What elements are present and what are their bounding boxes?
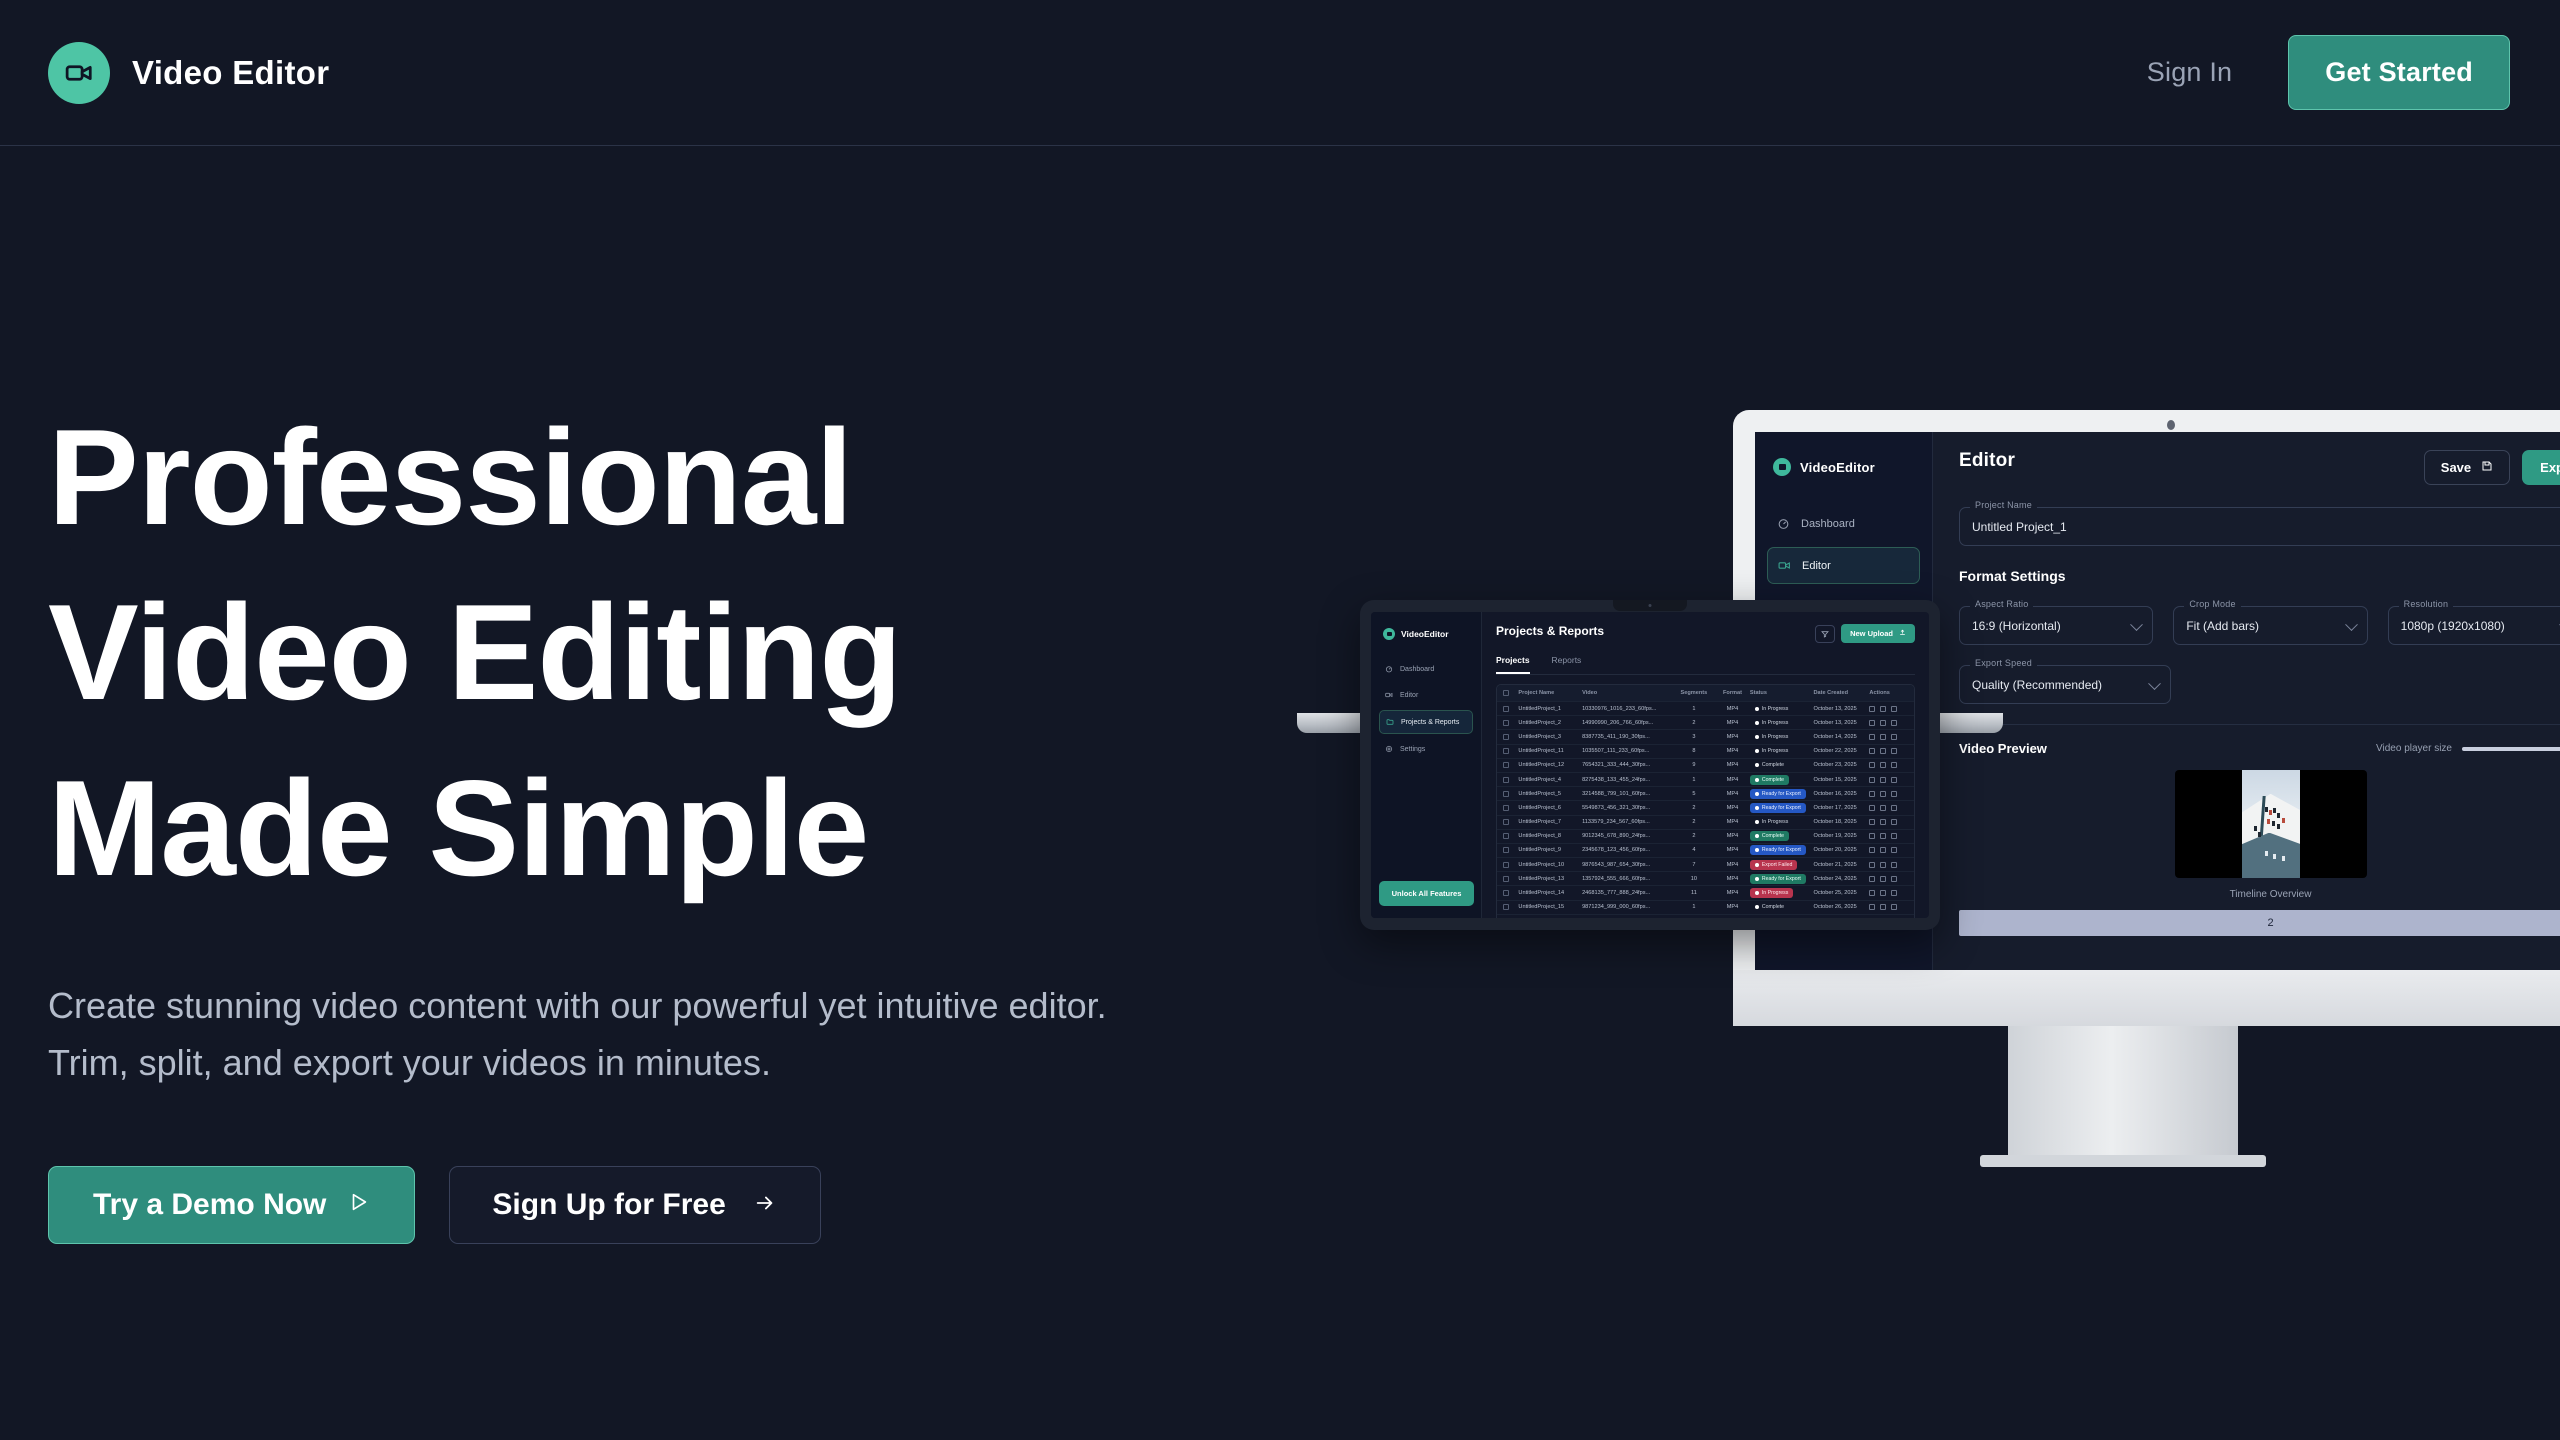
table-header-row: Project Name Video Segments Format Statu… xyxy=(1497,685,1914,702)
cell-status: In Progress xyxy=(1750,718,1814,728)
cell-status: In Progress xyxy=(1750,746,1814,756)
resolution-value: 1080p (1920x1080) xyxy=(2401,619,2560,633)
video-preview-header: Video Preview Video player size xyxy=(1959,741,2560,756)
row-checkbox[interactable] xyxy=(1503,791,1509,797)
player-size-slider[interactable] xyxy=(2462,747,2560,751)
download-icon[interactable] xyxy=(1880,720,1886,726)
editor-page-title: Editor xyxy=(1959,450,2015,472)
row-actions[interactable] xyxy=(1869,777,1908,783)
download-icon[interactable] xyxy=(1880,777,1886,783)
cell-status: Complete xyxy=(1750,902,1814,912)
laptop-app-brand: VideoEditor xyxy=(1401,629,1449,639)
table-body: UntitledProject_110330976_1016_233_60fps… xyxy=(1497,702,1914,918)
monitor-main-panel: Editor Save Exp Projec xyxy=(1933,432,2560,970)
video-camera-icon xyxy=(48,42,110,104)
cell-video: 8387735_411_190_30fps... xyxy=(1582,734,1673,740)
cell-project-name: UntitledProject_11 xyxy=(1518,748,1582,754)
row-actions[interactable] xyxy=(1869,847,1908,853)
funnel-icon[interactable] xyxy=(1815,625,1835,643)
brand-name: Video Editor xyxy=(132,54,329,92)
gear-icon xyxy=(1385,745,1393,753)
trash-icon[interactable] xyxy=(1891,819,1897,825)
sidebar-item-label: Projects & Reports xyxy=(1401,719,1459,726)
table-row[interactable]: UntitledProject_92345678_123_456_60fps..… xyxy=(1497,844,1914,858)
gauge-icon xyxy=(1777,517,1790,530)
row-checkbox[interactable] xyxy=(1503,819,1509,825)
aspect-ratio-value: 16:9 (Horizontal) xyxy=(1972,619,2140,633)
cell-segments: 7 xyxy=(1673,862,1715,868)
video-preview-heading: Video Preview xyxy=(1959,741,2047,756)
cell-video: 14990990_206_766_60fps... xyxy=(1582,720,1673,726)
cell-project-name: UntitledProject_4 xyxy=(1518,777,1582,783)
hero-section: Professional Video Editing Made Simple C… xyxy=(48,390,1148,1244)
cell-date-created: October 24, 2025 xyxy=(1813,876,1869,882)
cell-video: 7654321_333_444_30fps... xyxy=(1582,762,1673,768)
hero-cta-group: Try a Demo Now Sign Up for Free xyxy=(48,1166,1148,1244)
cell-format: MP4 xyxy=(1715,748,1750,754)
table-row[interactable]: UntitledProject_127654321_333_444_30fps.… xyxy=(1497,759,1914,773)
status-badge: Complete xyxy=(1750,775,1789,785)
row-actions[interactable] xyxy=(1869,904,1908,910)
aspect-ratio-select[interactable]: Aspect Ratio 16:9 (Horizontal) xyxy=(1959,606,2153,645)
table-row[interactable]: UntitledProject_159871234_999_000_60fps.… xyxy=(1497,901,1914,915)
site-header: Video Editor Sign In Get Started xyxy=(0,0,2560,146)
crop-mode-select[interactable]: Crop Mode Fit (Add bars) xyxy=(2173,606,2367,645)
status-badge: In Progress xyxy=(1750,718,1794,728)
cell-date-created: October 22, 2025 xyxy=(1813,748,1869,754)
download-icon[interactable] xyxy=(1880,762,1886,768)
new-upload-label: New Upload xyxy=(1850,629,1893,638)
table-row[interactable]: UntitledProject_110330976_1016_233_60fps… xyxy=(1497,702,1914,716)
video-camera-icon xyxy=(1778,559,1791,572)
trash-icon[interactable] xyxy=(1891,748,1897,754)
player-size-control[interactable]: Video player size xyxy=(2376,743,2560,754)
download-icon[interactable] xyxy=(1880,904,1886,910)
cell-status: Complete xyxy=(1750,775,1814,785)
sidebar-item-label: Editor xyxy=(1802,560,1831,572)
row-checkbox[interactable] xyxy=(1503,748,1509,754)
edit-icon[interactable] xyxy=(1869,748,1875,754)
resolution-select[interactable]: Resolution 1080p (1920x1080) xyxy=(2388,606,2560,645)
cell-segments: 1 xyxy=(1673,706,1715,712)
trash-icon[interactable] xyxy=(1891,833,1897,839)
format-settings-heading: Format Settings xyxy=(1959,568,2560,584)
crop-mode-label: Crop Mode xyxy=(2184,599,2240,609)
row-actions[interactable] xyxy=(1869,762,1908,768)
laptop-header: Projects & Reports New Upload xyxy=(1496,624,1915,643)
cell-date-created: October 17, 2025 xyxy=(1813,805,1869,811)
download-icon[interactable] xyxy=(1880,706,1886,712)
cell-date-created: October 15, 2025 xyxy=(1813,777,1869,783)
cell-video: 10330976_1016_233_60fps... xyxy=(1582,706,1673,712)
cell-format: MP4 xyxy=(1715,819,1750,825)
cell-format: MP4 xyxy=(1715,791,1750,797)
row-checkbox[interactable] xyxy=(1503,890,1509,896)
cell-segments: 5 xyxy=(1673,791,1715,797)
status-badge: Ready for Export xyxy=(1750,803,1806,813)
table-row[interactable]: UntitledProject_111035507_111_233_60fps.… xyxy=(1497,745,1914,759)
trash-icon[interactable] xyxy=(1891,791,1897,797)
cell-video: 1133579_234_567_60fps... xyxy=(1582,819,1673,825)
row-actions[interactable] xyxy=(1869,805,1908,811)
cell-format: MP4 xyxy=(1715,762,1750,768)
play-triangle-icon xyxy=(348,1188,370,1222)
download-icon[interactable] xyxy=(1880,748,1886,754)
sidebar-item-editor[interactable]: Editor xyxy=(1767,547,1920,584)
projects-tabs: Projects Reports xyxy=(1496,655,1915,675)
edit-icon[interactable] xyxy=(1869,734,1875,740)
status-badge: In Progress xyxy=(1750,732,1794,742)
laptop-sidebar: VideoEditor Dashboard Editor xyxy=(1371,612,1482,918)
upload-icon xyxy=(1899,629,1906,638)
save-button[interactable]: Save xyxy=(2424,450,2510,485)
laptop-main-panel: Projects & Reports New Upload xyxy=(1482,612,1929,918)
status-badge: In Progress xyxy=(1750,888,1794,898)
column-project-name[interactable]: Project Name xyxy=(1518,690,1582,696)
row-actions[interactable] xyxy=(1869,862,1908,868)
cell-video: 9876543_987_654_30fps... xyxy=(1582,862,1673,868)
download-icon[interactable] xyxy=(1880,791,1886,797)
try-demo-label: Try a Demo Now xyxy=(93,1188,326,1222)
get-started-button[interactable]: Get Started xyxy=(2288,35,2510,110)
trash-icon[interactable] xyxy=(1891,734,1897,740)
resolution-label: Resolution xyxy=(2399,599,2454,609)
cell-status: Complete xyxy=(1750,760,1814,770)
cell-project-name: UntitledProject_7 xyxy=(1518,819,1582,825)
sign-in-link[interactable]: Sign In xyxy=(2147,57,2232,88)
export-speed-select[interactable]: Export Speed Quality (Recommended) xyxy=(1959,665,2171,704)
table-row[interactable]: UntitledProject_53214588_799_101_60fps..… xyxy=(1497,787,1914,801)
cell-date-created: October 20, 2025 xyxy=(1813,847,1869,853)
download-icon[interactable] xyxy=(1880,819,1886,825)
new-upload-button[interactable]: New Upload xyxy=(1841,624,1915,643)
trash-icon[interactable] xyxy=(1891,904,1897,910)
laptop-screen: VideoEditor Dashboard Editor xyxy=(1371,612,1929,918)
cell-segments: 1 xyxy=(1673,904,1715,910)
edit-icon[interactable] xyxy=(1869,791,1875,797)
row-checkbox[interactable] xyxy=(1503,734,1509,740)
cell-video: 2345678_123_456_60fps... xyxy=(1582,847,1673,853)
cell-format: MP4 xyxy=(1715,890,1750,896)
select-all-checkbox[interactable] xyxy=(1503,690,1509,696)
edit-icon[interactable] xyxy=(1869,762,1875,768)
cell-segments: 8 xyxy=(1673,748,1715,754)
table-row[interactable]: UntitledProject_65549873_456_321_30fps..… xyxy=(1497,801,1914,815)
video-camera-icon xyxy=(1385,691,1393,699)
status-badge: In Progress xyxy=(1750,817,1794,827)
laptop-mockup: VideoEditor Dashboard Editor xyxy=(1360,600,1940,930)
cell-project-name: UntitledProject_5 xyxy=(1518,791,1582,797)
cell-date-created: October 14, 2025 xyxy=(1813,734,1869,740)
cell-date-created: October 16, 2025 xyxy=(1813,791,1869,797)
project-name-field[interactable]: Project Name Untitled Project_1 xyxy=(1959,507,2560,546)
row-checkbox[interactable] xyxy=(1503,720,1509,726)
edit-icon[interactable] xyxy=(1869,862,1875,868)
format-settings-row-2: Export Speed Quality (Recommended) xyxy=(1959,657,2560,704)
download-icon[interactable] xyxy=(1880,876,1886,882)
cell-format: MP4 xyxy=(1715,847,1750,853)
download-icon[interactable] xyxy=(1880,890,1886,896)
sidebar-item-dashboard[interactable]: Dashboard xyxy=(1379,658,1473,680)
editor-actions: Save Exp xyxy=(2424,450,2560,485)
trash-icon[interactable] xyxy=(1891,876,1897,882)
row-actions[interactable] xyxy=(1869,876,1908,882)
cell-project-name: UntitledProject_14 xyxy=(1518,890,1582,896)
row-actions[interactable] xyxy=(1869,890,1908,896)
cell-project-name: UntitledProject_1 xyxy=(1518,706,1582,712)
cell-video: 9012345_678_890_24fps... xyxy=(1582,833,1673,839)
cell-date-created: October 21, 2025 xyxy=(1813,862,1869,868)
download-icon[interactable] xyxy=(1880,847,1886,853)
table-row[interactable]: UntitledProject_214990990_206_766_60fps.… xyxy=(1497,716,1914,730)
cell-video: 1035507_111_233_60fps... xyxy=(1582,748,1673,754)
project-name-label: Project Name xyxy=(1970,500,2037,510)
edit-icon[interactable] xyxy=(1869,706,1875,712)
hero-subtitle: Create stunning video content with our p… xyxy=(48,978,1123,1092)
cell-segments: 2 xyxy=(1673,805,1715,811)
row-actions[interactable] xyxy=(1869,706,1908,712)
cell-format: MP4 xyxy=(1715,833,1750,839)
trash-icon[interactable] xyxy=(1891,805,1897,811)
cell-format: MP4 xyxy=(1715,904,1750,910)
cell-project-name: UntitledProject_15 xyxy=(1518,904,1582,910)
cell-project-name: UntitledProject_2 xyxy=(1518,720,1582,726)
cell-date-created: October 26, 2025 xyxy=(1813,904,1869,910)
status-badge: Export Failed xyxy=(1750,916,1798,918)
cell-video: 3214588_799_101_60fps... xyxy=(1582,791,1673,797)
edit-icon[interactable] xyxy=(1869,777,1875,783)
trash-icon[interactable] xyxy=(1891,706,1897,712)
format-settings-row-1: Aspect Ratio 16:9 (Horizontal) Crop Mode… xyxy=(1959,598,2560,645)
table-row[interactable]: UntitledProject_89012345_678_890_24fps..… xyxy=(1497,830,1914,844)
column-video[interactable]: Video xyxy=(1582,690,1673,696)
row-checkbox[interactable] xyxy=(1503,862,1509,868)
download-icon[interactable] xyxy=(1880,833,1886,839)
cell-segments: 9 xyxy=(1673,762,1715,768)
cell-format: MP4 xyxy=(1715,734,1750,740)
cell-status: In Progress xyxy=(1750,732,1814,742)
cell-project-name: UntitledProject_12 xyxy=(1518,762,1582,768)
sidebar-item-editor[interactable]: Editor xyxy=(1379,684,1473,706)
sidebar-item-settings[interactable]: Settings xyxy=(1379,738,1473,760)
arrow-right-icon xyxy=(752,1188,778,1222)
product-mockup-stage: VideoEditor Dashboard Editor xyxy=(1360,395,2560,1245)
edit-icon[interactable] xyxy=(1869,876,1875,882)
table-row[interactable]: UntitledProject_161330976_123_456_30fps.… xyxy=(1497,915,1914,918)
tab-projects[interactable]: Projects xyxy=(1496,655,1530,674)
sign-up-label: Sign Up for Free xyxy=(492,1188,725,1222)
crop-mode-value: Fit (Add bars) xyxy=(2186,619,2354,633)
export-label: Exp xyxy=(2540,460,2560,475)
cell-video: 2468135_777_888_24fps... xyxy=(1582,890,1673,896)
status-badge: Export Failed xyxy=(1750,860,1798,870)
edit-icon[interactable] xyxy=(1869,833,1875,839)
player-size-label: Video player size xyxy=(2376,743,2452,754)
table-row[interactable]: UntitledProject_109876543_987_654_30fps.… xyxy=(1497,858,1914,872)
row-checkbox[interactable] xyxy=(1503,706,1509,712)
cell-status: Complete xyxy=(1750,831,1814,841)
download-icon[interactable] xyxy=(1880,862,1886,868)
table-row[interactable]: UntitledProject_131357924_555_666_60fps.… xyxy=(1497,872,1914,886)
cell-date-created: October 13, 2025 xyxy=(1813,706,1869,712)
trash-icon[interactable] xyxy=(1891,762,1897,768)
laptop-header-actions: New Upload xyxy=(1815,624,1915,643)
sidebar-item-label: Dashboard xyxy=(1400,666,1434,673)
try-demo-button[interactable]: Try a Demo Now xyxy=(48,1166,415,1244)
cell-format: MP4 xyxy=(1715,862,1750,868)
cell-date-created: October 13, 2025 xyxy=(1813,720,1869,726)
monitor-stand-neck xyxy=(2008,1026,2238,1161)
column-segments[interactable]: Segments xyxy=(1673,690,1715,696)
floppy-disk-icon xyxy=(2481,460,2493,475)
cell-segments: 2 xyxy=(1673,819,1715,825)
video-camera-icon xyxy=(1773,458,1791,476)
status-badge: Complete xyxy=(1750,902,1789,912)
cell-segments: 1 xyxy=(1673,777,1715,783)
edit-icon[interactable] xyxy=(1869,805,1875,811)
status-badge: Complete xyxy=(1750,831,1789,841)
monitor-app-brand: VideoEditor xyxy=(1800,460,1875,475)
download-icon[interactable] xyxy=(1880,805,1886,811)
cell-date-created: October 23, 2025 xyxy=(1813,762,1869,768)
sidebar-item-label: Dashboard xyxy=(1801,518,1855,530)
cell-format: MP4 xyxy=(1715,876,1750,882)
trash-icon[interactable] xyxy=(1891,890,1897,896)
edit-icon[interactable] xyxy=(1869,819,1875,825)
row-checkbox[interactable] xyxy=(1503,833,1509,839)
cell-status: Export Failed xyxy=(1750,860,1814,870)
download-icon[interactable] xyxy=(1880,734,1886,740)
monitor-app-logo: VideoEditor xyxy=(1773,458,1920,476)
laptop-app-logo: VideoEditor xyxy=(1383,628,1473,640)
cell-project-name: UntitledProject_13 xyxy=(1518,876,1582,882)
brand-logo[interactable]: Video Editor xyxy=(48,42,329,104)
cell-format: MP4 xyxy=(1715,805,1750,811)
sidebar-item-label: Settings xyxy=(1400,746,1425,753)
row-actions[interactable] xyxy=(1869,791,1908,797)
row-checkbox[interactable] xyxy=(1503,847,1509,853)
page-title: Professional Video Editing Made Simple xyxy=(48,390,1148,916)
timeline-bar[interactable]: 2 xyxy=(1959,910,2560,936)
trash-icon[interactable] xyxy=(1891,720,1897,726)
status-badge: Ready for Export xyxy=(1750,845,1806,855)
trash-icon[interactable] xyxy=(1891,847,1897,853)
row-checkbox[interactable] xyxy=(1503,762,1509,768)
column-actions: Actions xyxy=(1869,690,1908,696)
building-photo xyxy=(2242,770,2300,878)
table-row[interactable]: UntitledProject_48275438_133_455_24fps..… xyxy=(1497,773,1914,787)
cell-project-name: UntitledProject_8 xyxy=(1518,833,1582,839)
trash-icon[interactable] xyxy=(1891,862,1897,868)
sidebar-item-projects-reports[interactable]: Projects & Reports xyxy=(1379,710,1473,734)
folder-icon xyxy=(1386,718,1394,726)
table-row[interactable]: UntitledProject_38387735_411_190_30fps..… xyxy=(1497,730,1914,744)
video-camera-icon xyxy=(1383,628,1395,640)
cell-status: In Progress xyxy=(1750,817,1814,827)
cell-video: 8275438_133_455_24fps... xyxy=(1582,777,1673,783)
sidebar-item-label: Editor xyxy=(1400,692,1418,699)
monitor-topbar: Editor Save Exp xyxy=(1959,450,2560,485)
cell-status: In Progress xyxy=(1750,888,1814,898)
cell-project-name: UntitledProject_9 xyxy=(1518,847,1582,853)
cell-date-created: October 19, 2025 xyxy=(1813,833,1869,839)
cell-segments: 10 xyxy=(1673,876,1715,882)
row-actions[interactable] xyxy=(1869,833,1908,839)
status-badge: In Progress xyxy=(1750,746,1794,756)
cell-status: Export Failed xyxy=(1750,916,1814,918)
export-speed-label: Export Speed xyxy=(1970,658,2037,668)
row-actions[interactable] xyxy=(1869,819,1908,825)
status-badge: Ready for Export xyxy=(1750,874,1806,884)
edit-icon[interactable] xyxy=(1869,847,1875,853)
cell-format: MP4 xyxy=(1715,777,1750,783)
cell-project-name: UntitledProject_6 xyxy=(1518,805,1582,811)
cell-date-created: October 25, 2025 xyxy=(1813,890,1869,896)
table-row[interactable]: UntitledProject_142468135_777_888_24fps.… xyxy=(1497,886,1914,900)
timeline-overview-label: Timeline Overview xyxy=(1959,889,2560,900)
row-actions[interactable] xyxy=(1869,748,1908,754)
column-status[interactable]: Status xyxy=(1750,690,1814,696)
cell-format: MP4 xyxy=(1715,720,1750,726)
section-divider xyxy=(1959,724,2560,725)
sidebar-item-dashboard[interactable]: Dashboard xyxy=(1767,506,1920,541)
export-button[interactable]: Exp xyxy=(2522,450,2560,485)
project-name-value: Untitled Project_1 xyxy=(1972,520,2560,534)
cell-segments: 4 xyxy=(1673,847,1715,853)
row-checkbox[interactable] xyxy=(1503,904,1509,910)
trash-icon[interactable] xyxy=(1891,777,1897,783)
column-format[interactable]: Format xyxy=(1715,690,1750,696)
laptop-notch xyxy=(1613,600,1687,611)
cell-status: Ready for Export xyxy=(1750,845,1814,855)
video-player-preview[interactable] xyxy=(2175,770,2367,878)
projects-table: Project Name Video Segments Format Statu… xyxy=(1496,684,1915,918)
cell-segments: 2 xyxy=(1673,833,1715,839)
cell-project-name: UntitledProject_10 xyxy=(1518,862,1582,868)
edit-icon[interactable] xyxy=(1869,720,1875,726)
webcam-icon xyxy=(2167,420,2175,430)
aspect-ratio-label: Aspect Ratio xyxy=(1970,599,2033,609)
monitor-stand-foot xyxy=(1980,1155,2266,1167)
status-badge: Complete xyxy=(1750,760,1789,770)
tab-reports[interactable]: Reports xyxy=(1552,655,1582,674)
row-checkbox[interactable] xyxy=(1503,805,1509,811)
cell-status: In Progress xyxy=(1750,704,1814,714)
cell-status: Ready for Export xyxy=(1750,789,1814,799)
cell-project-name: UntitledProject_3 xyxy=(1518,734,1582,740)
cell-video: 9871234_999_000_60fps... xyxy=(1582,904,1673,910)
table-row[interactable]: UntitledProject_71133579_234_567_60fps..… xyxy=(1497,816,1914,830)
projects-page-title: Projects & Reports xyxy=(1496,624,1604,638)
unlock-all-features-button[interactable]: Unlock All Features xyxy=(1379,881,1474,906)
sign-up-free-button[interactable]: Sign Up for Free xyxy=(449,1166,820,1244)
export-speed-value: Quality (Recommended) xyxy=(1972,678,2158,692)
column-date-created[interactable]: Date Created xyxy=(1813,690,1869,696)
edit-icon[interactable] xyxy=(1869,890,1875,896)
row-checkbox[interactable] xyxy=(1503,876,1509,882)
monitor-chin xyxy=(1733,970,2560,1026)
cell-segments: 2 xyxy=(1673,720,1715,726)
save-label: Save xyxy=(2441,460,2471,475)
row-checkbox[interactable] xyxy=(1503,777,1509,783)
row-actions[interactable] xyxy=(1869,720,1908,726)
cell-status: Ready for Export xyxy=(1750,803,1814,813)
gauge-icon xyxy=(1385,665,1393,673)
status-badge: Ready for Export xyxy=(1750,789,1806,799)
row-actions[interactable] xyxy=(1869,734,1908,740)
edit-icon[interactable] xyxy=(1869,904,1875,910)
cell-date-created: October 18, 2025 xyxy=(1813,819,1869,825)
